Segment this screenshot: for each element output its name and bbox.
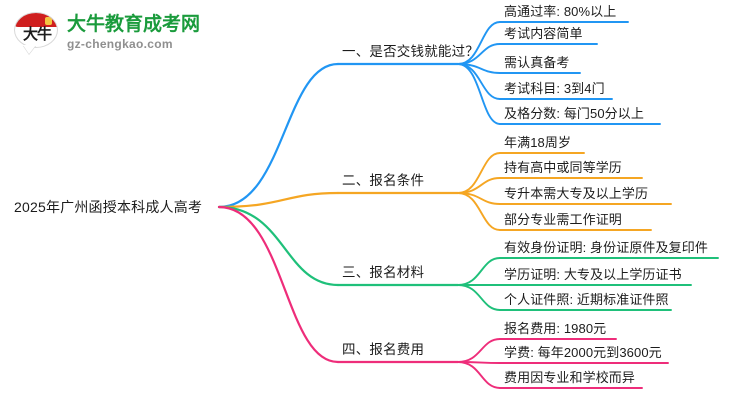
leaf-label-3-2[interactable]: 学历证明: 大专及以上学历证书 [504, 268, 682, 281]
branch-label-2[interactable]: 二、报名条件 [342, 174, 424, 188]
leaf-label-2-4[interactable]: 部分专业需工作证明 [504, 213, 622, 226]
connector-line [219, 207, 338, 285]
leaf-label-1-3[interactable]: 需认真备考 [504, 56, 570, 69]
mindmap-canvas: 大牛 大牛教育成考网 gz-chengkao.com 2025年广州函授本科成人… [0, 0, 750, 410]
branch-label-4[interactable]: 四、报名费用 [342, 343, 424, 357]
site-logo: 大牛 大牛教育成考网 gz-chengkao.com [14, 10, 200, 54]
leaf-label-3-3[interactable]: 个人证件照: 近期标准证件照 [504, 293, 669, 306]
connector-line [458, 258, 500, 285]
leaf-label-2-2[interactable]: 持有高中或同等学历 [504, 161, 622, 174]
logo-accent-dot [45, 17, 52, 25]
logo-mark-text: 大牛 [15, 26, 58, 43]
mindmap-root-label: 2025年广州函授本科成人高考 [14, 200, 202, 214]
connector-line [458, 64, 500, 73]
logo-bubble-tail [23, 45, 36, 54]
connector-line [219, 207, 338, 362]
leaf-label-1-1[interactable]: 高通过率: 80%以上 [504, 5, 616, 18]
connector-line [458, 285, 500, 310]
connector-line [458, 362, 500, 388]
branch-label-3[interactable]: 三、报名材料 [342, 266, 424, 280]
connector-line [458, 178, 500, 193]
leaf-label-1-4[interactable]: 考试科目: 3到4门 [504, 82, 605, 95]
connector-line [458, 64, 500, 99]
connector-line [458, 362, 500, 363]
leaf-label-2-1[interactable]: 年满18周岁 [504, 136, 571, 149]
logo-bull-icon: 大牛 [14, 10, 60, 54]
leaf-label-4-2[interactable]: 学费: 每年2000元到3600元 [504, 346, 662, 359]
leaf-label-3-1[interactable]: 有效身份证明: 身份证原件及复印件 [504, 241, 708, 254]
logo-title: 大牛教育成考网 [67, 14, 200, 36]
leaf-label-4-3[interactable]: 费用因专业和学校而异 [504, 371, 635, 384]
leaf-label-4-1[interactable]: 报名费用: 1980元 [504, 322, 606, 335]
connector-line [458, 64, 500, 124]
connector-line [458, 339, 500, 362]
logo-subtitle: gz-chengkao.com [67, 37, 200, 51]
leaf-label-1-5[interactable]: 及格分数: 每门50分以上 [504, 107, 644, 120]
connector-line [219, 193, 338, 207]
connector-line [458, 193, 500, 230]
connector-line [458, 193, 500, 204]
logo-speech-bubble: 大牛 [14, 12, 58, 48]
leaf-label-1-2[interactable]: 考试内容简单 [504, 27, 583, 40]
connector-line [219, 64, 338, 207]
leaf-label-2-3[interactable]: 专升本需大专及以上学历 [504, 187, 648, 200]
logo-text-block: 大牛教育成考网 gz-chengkao.com [67, 14, 200, 51]
connector-line [458, 153, 500, 193]
branch-label-1[interactable]: 一、是否交钱就能过？ [342, 45, 479, 59]
